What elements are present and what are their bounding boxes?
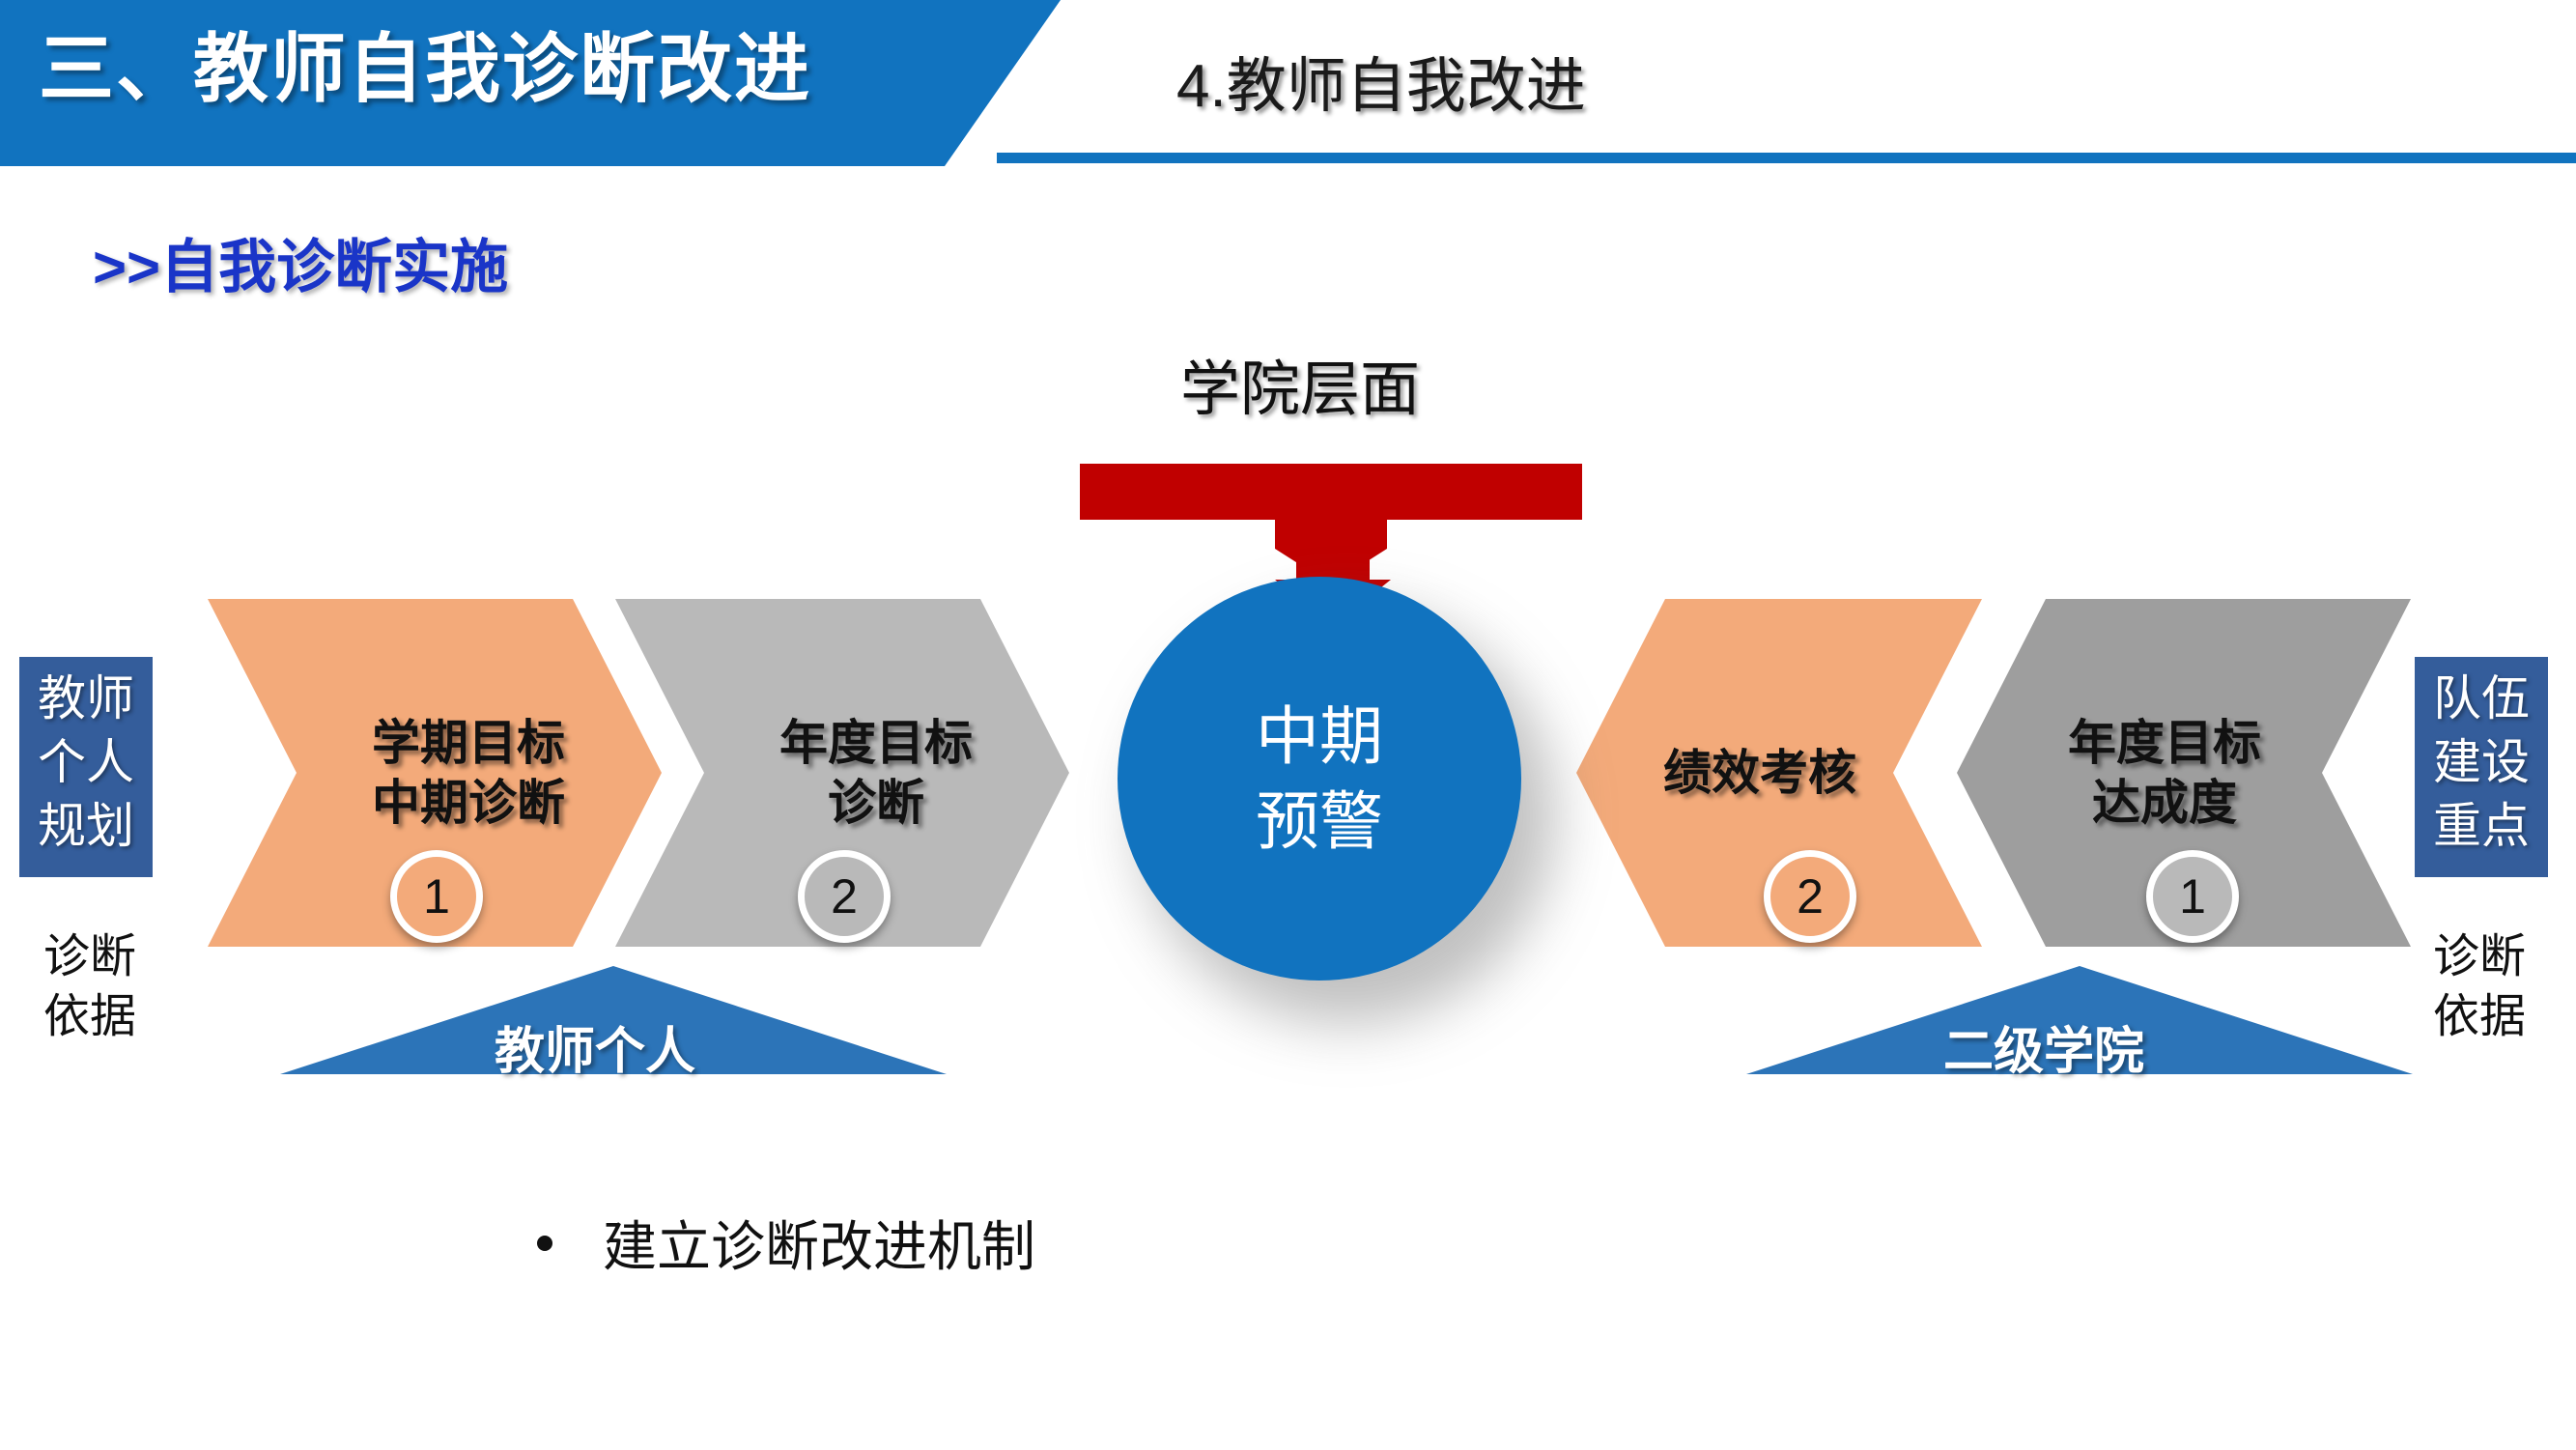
footer-bullet-text: 建立诊断改进机制 bbox=[603, 1204, 1035, 1282]
step-chevron-1-label: 学期目标 中期诊断 bbox=[304, 713, 565, 833]
step-chevron-4-label: 年度目标 达成度 bbox=[2068, 713, 2300, 833]
step-badge-3: 2 bbox=[1764, 850, 1856, 943]
college-level-label: 学院层面 bbox=[1180, 340, 1420, 427]
right-basis-label: 诊断 依据 bbox=[2407, 927, 2552, 1047]
center-circle-label: 中期 预警 bbox=[1256, 694, 1383, 864]
header-subtitle: 4.教师自我改进 bbox=[1176, 46, 1586, 128]
header-divider-rule bbox=[997, 153, 2576, 163]
step-chevron-3-label: 绩效考核 bbox=[1663, 743, 1895, 803]
page-title: 三、教师自我诊断改进 bbox=[39, 15, 811, 122]
footer-bullet-row: 建立诊断改进机制 bbox=[537, 1204, 1035, 1282]
step-badge-1: 1 bbox=[390, 850, 483, 943]
section-title: >>自我诊断实施 bbox=[93, 220, 508, 304]
actor-banner-college-label: 二级学院 bbox=[1943, 1010, 2144, 1083]
step-badge-4: 1 bbox=[2146, 850, 2239, 943]
step-chevron-2-label: 年度目标 诊断 bbox=[712, 713, 973, 833]
center-circle[interactable]: 中期 预警 bbox=[1118, 577, 1521, 981]
step-badge-2: 2 bbox=[798, 850, 891, 943]
right-endcap-box: 队伍 建设 重点 bbox=[2415, 657, 2548, 877]
actor-banner-teacher-label: 教师个人 bbox=[495, 1010, 695, 1083]
left-basis-label: 诊断 依据 bbox=[17, 927, 162, 1047]
bullet-dot-icon bbox=[537, 1236, 552, 1251]
left-endcap-box: 教师 个人 规划 bbox=[19, 657, 153, 877]
slide-canvas: 三、教师自我诊断改进 4.教师自我改进 >>自我诊断实施 学院层面 教师 个人 … bbox=[0, 0, 2576, 1450]
